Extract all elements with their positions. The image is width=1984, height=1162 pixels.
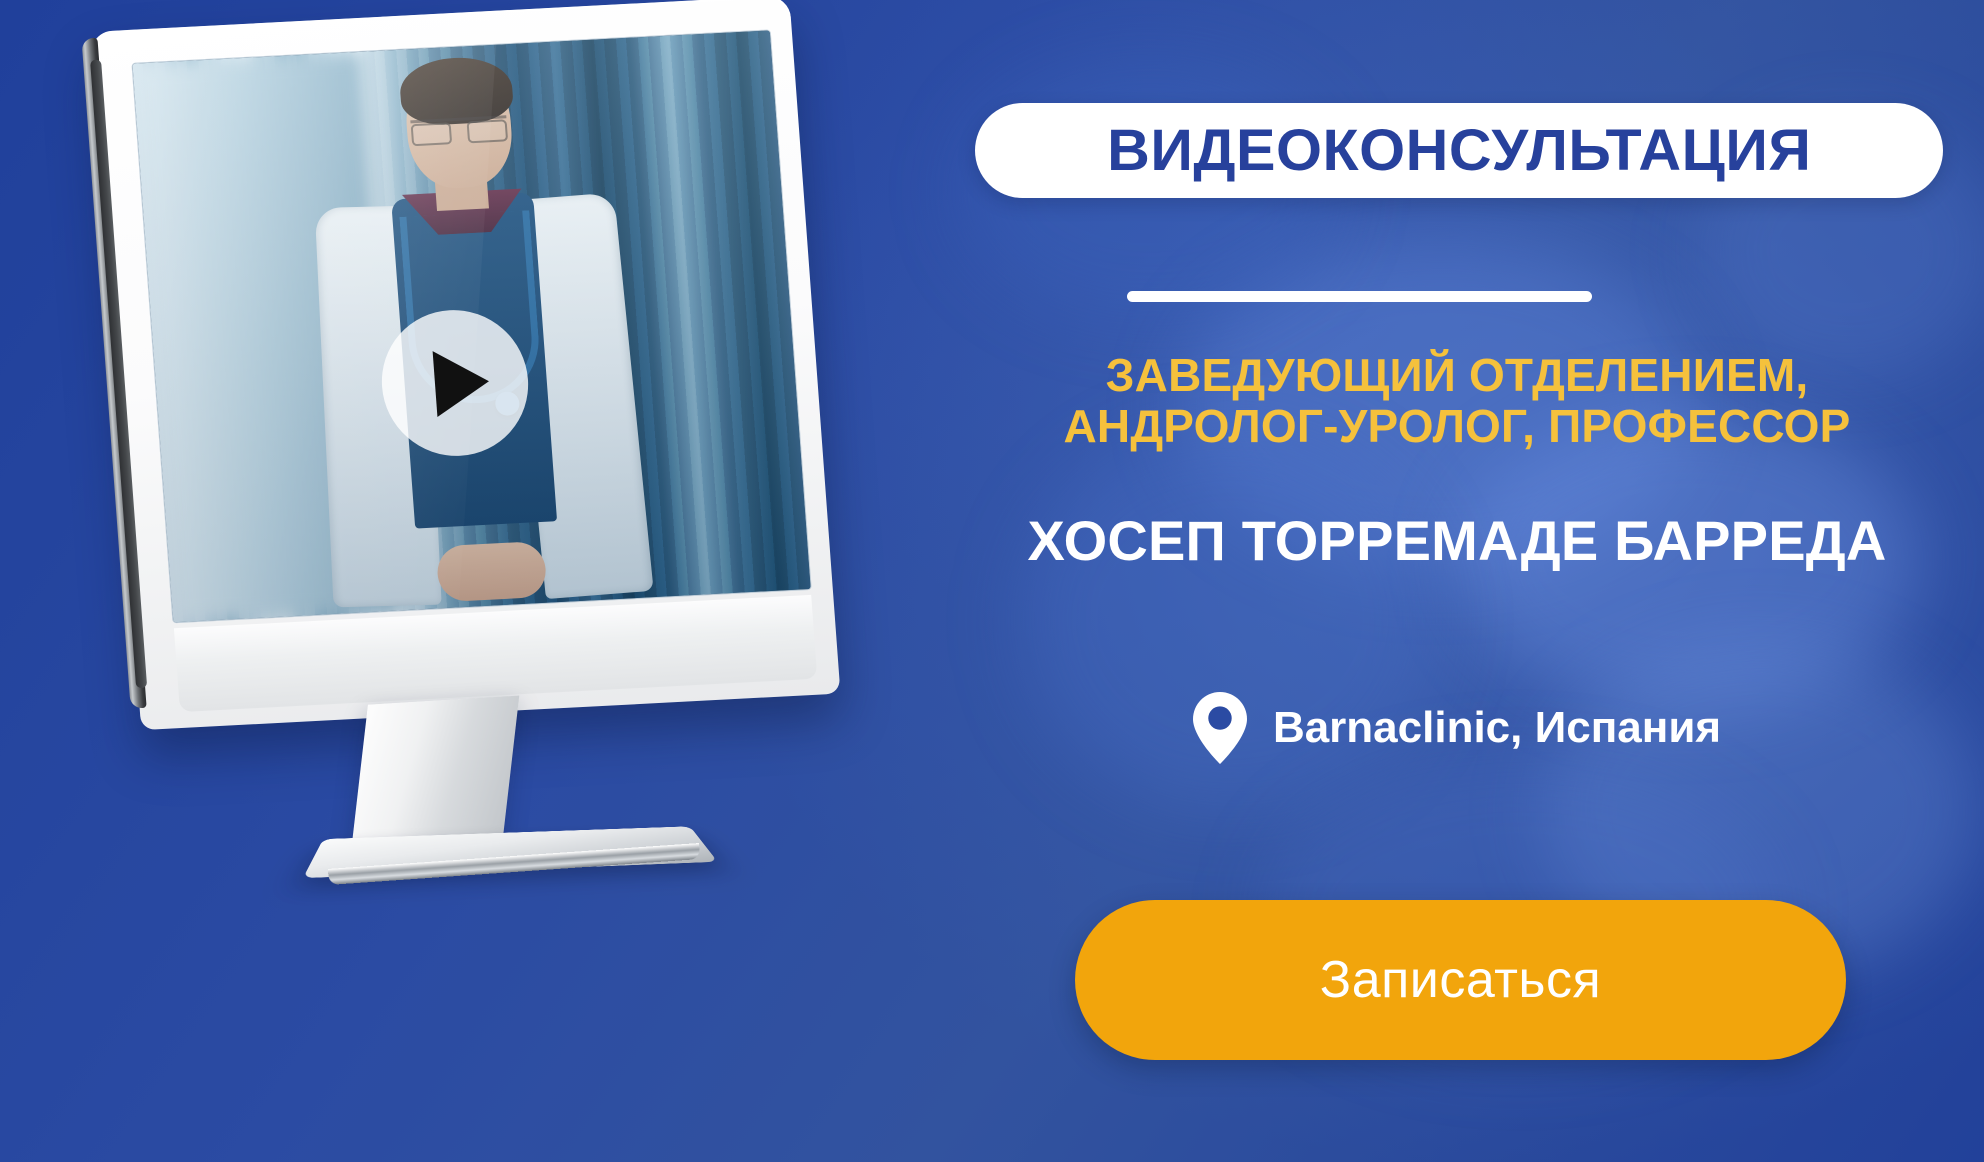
title-badge: ВИДЕОКОНСУЛЬТАЦИЯ: [975, 103, 1943, 198]
doctor-role: ЗАВЕДУЮЩИЙ ОТДЕЛЕНИЕМ, АНДРОЛОГ-УРОЛОГ, …: [930, 350, 1984, 451]
location-text: Barnaclinic, Испания: [1273, 703, 1721, 753]
divider: [1127, 291, 1592, 302]
eyeglasses-icon: [410, 115, 507, 140]
play-triangle-icon: [433, 348, 492, 417]
doctor-role-line-1: ЗАВЕДУЮЩИЙ ОТДЕЛЕНИЕМ,: [930, 350, 1984, 401]
book-appointment-button[interactable]: Записаться: [1075, 900, 1846, 1060]
monitor-stand-neck: [351, 696, 520, 855]
location-row: Barnaclinic, Испания: [930, 692, 1984, 764]
location-pin-icon: [1193, 692, 1247, 764]
info-panel: ВИДЕОКОНСУЛЬТАЦИЯ ЗАВЕДУЮЩИЙ ОТДЕЛЕНИЕМ,…: [930, 0, 1984, 1162]
doctor-hands: [436, 541, 548, 603]
doctor-role-line-2: АНДРОЛОГ-УРОЛОГ, ПРОФЕССОР: [930, 401, 1984, 452]
doctor-name: ХОСЕП ТОРРЕМАДЕ БАРРЕДА: [930, 512, 1984, 571]
video-monitor: [60, 10, 820, 940]
page-title: ВИДЕОКОНСУЛЬТАЦИЯ: [1107, 117, 1811, 184]
